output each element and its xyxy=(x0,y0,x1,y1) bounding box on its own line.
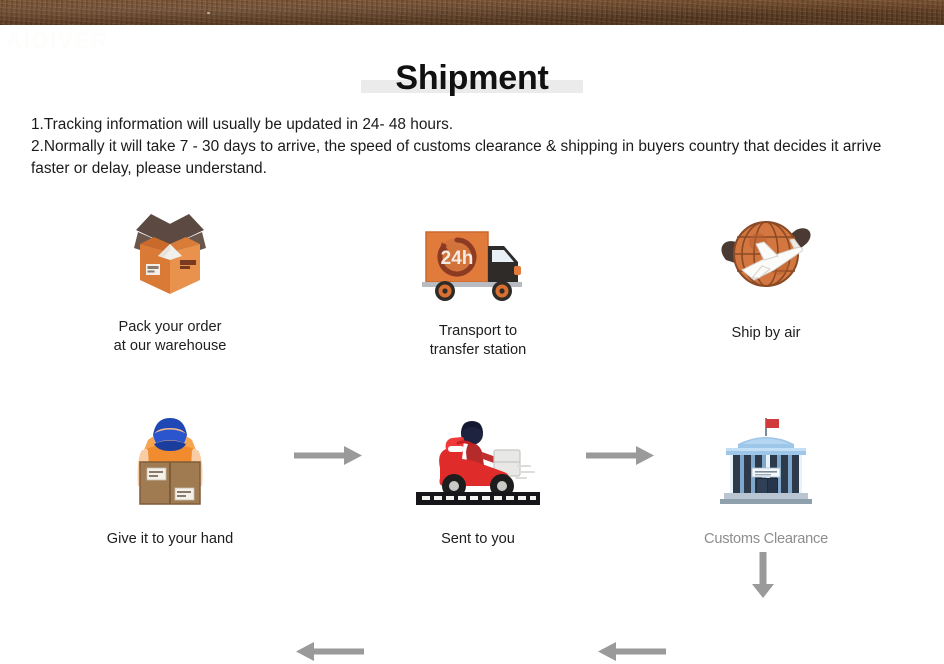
scooter-courier-icon xyxy=(388,402,568,510)
page-title: Shipment xyxy=(0,54,944,102)
shipping-note-1: 1.Tracking information will usually be u… xyxy=(31,114,911,136)
flow-step-caption: Customs Clearance xyxy=(676,530,856,549)
caption-line-1: Give it to your hand xyxy=(80,530,260,549)
caption-line-1: Customs Clearance xyxy=(676,530,856,549)
delivery-truck-24h-icon: 24h xyxy=(388,200,568,308)
globe-airplane-icon xyxy=(676,196,856,304)
flow-step-ship-by-air: Ship by air xyxy=(676,196,856,343)
caption-line-2: transfer station xyxy=(388,341,568,360)
caption-line-2: at our warehouse xyxy=(80,337,260,356)
flow-step-caption: Pack your order at our warehouse xyxy=(80,318,260,357)
arrow-right-icon xyxy=(586,444,656,468)
caption-line-1: Sent to you xyxy=(388,530,568,549)
truck-badge-text: 24h xyxy=(441,248,474,269)
flow-step-caption: Transport to transfer station xyxy=(388,322,568,361)
flow-step-caption: Sent to you xyxy=(388,530,568,549)
flow-step-sent-to-you: Sent to you xyxy=(388,402,568,549)
header-speck xyxy=(207,12,210,14)
shipping-note-2: 2.Normally it will take 7 - 30 days to a… xyxy=(31,136,911,180)
arrow-right-icon xyxy=(294,444,364,468)
flow-step-caption: Give it to your hand xyxy=(80,530,260,549)
flow-step-pack-order: Pack your order at our warehouse xyxy=(80,196,260,357)
arrow-left-icon xyxy=(596,640,666,664)
customs-building-icon xyxy=(676,402,856,510)
caption-line-1: Transport to xyxy=(388,322,568,341)
flow-step-customs-clearance: Customs Clearance xyxy=(676,402,856,549)
shipping-notes: 1.Tracking information will usually be u… xyxy=(31,114,911,180)
flow-step-give-to-hand: Give it to your hand xyxy=(80,402,260,549)
courier-holding-package-icon xyxy=(80,402,260,510)
caption-line-1: Ship by air xyxy=(676,324,856,343)
caption-line-1: Pack your order xyxy=(80,318,260,337)
arrow-down-icon xyxy=(750,552,776,600)
flow-step-caption: Ship by air xyxy=(676,324,856,343)
watermark-text: AIDIVER xyxy=(6,28,109,54)
title-text: Shipment xyxy=(395,59,548,97)
arrow-left-icon xyxy=(294,640,364,664)
open-cardboard-box-icon xyxy=(80,196,260,304)
header-texture-band xyxy=(0,0,944,25)
flow-step-transport: 24h Transport to transfer station xyxy=(388,200,568,361)
shipment-flow: Pack your order at our warehouse 24h xyxy=(0,196,944,571)
